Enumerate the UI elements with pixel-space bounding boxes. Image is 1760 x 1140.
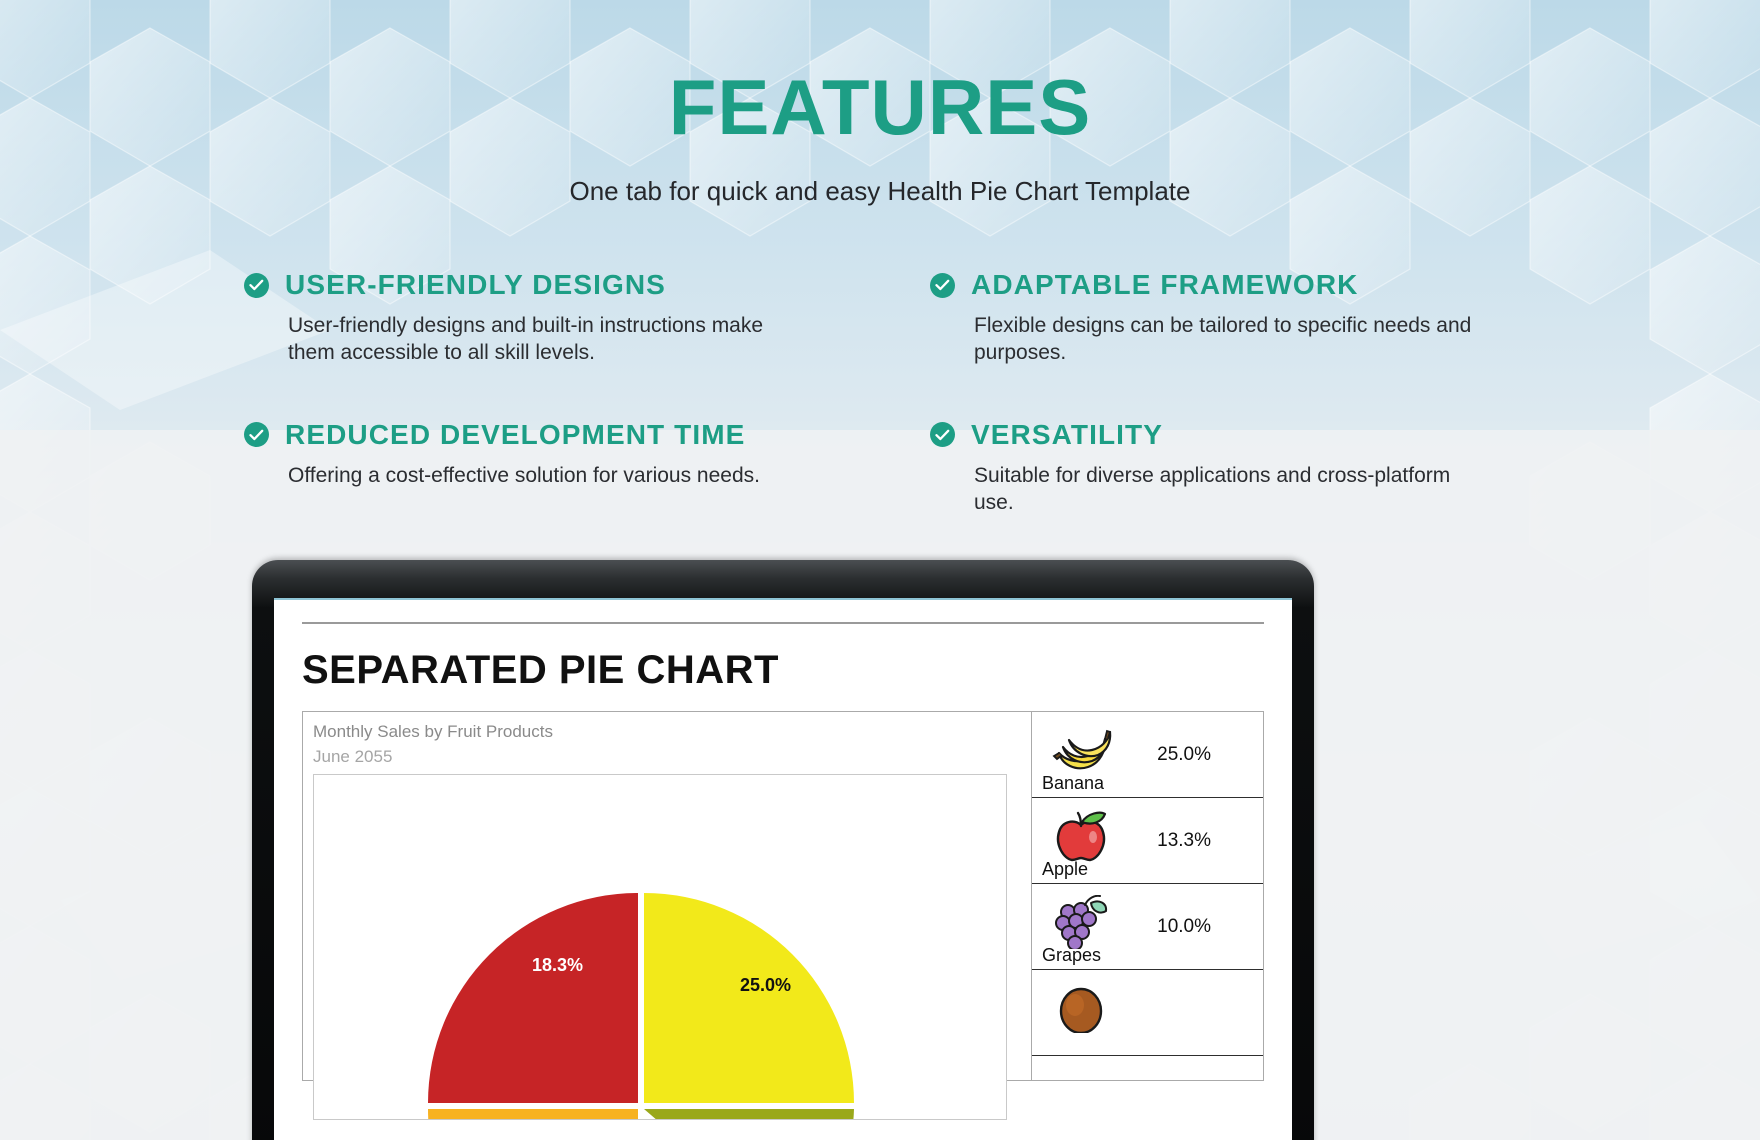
feature-title: ADAPTABLE FRAMEWORK [971,269,1358,301]
pie-slice-kiwi [644,1109,854,1120]
feature-title: VERSATILITY [971,419,1163,451]
page-subtitle: One tab for quick and easy Health Pie Ch… [0,176,1760,207]
legend-label-banana: Banana [1042,773,1104,794]
legend-row-kiwi [1032,970,1263,1056]
feature-heading: ADAPTABLE FRAMEWORK [930,269,1530,301]
plot-frame: 18.3% 25.0% [313,774,1007,1120]
check-circle-icon [244,422,269,447]
chart-subtitle: June 2055 [313,745,1021,770]
feature-title: USER-FRIENDLY DESIGNS [285,269,666,301]
check-circle-icon [930,273,955,298]
legend-row-apple: Apple 13.3% [1032,798,1263,884]
legend-percent-apple: 13.3% [1157,830,1211,852]
check-circle-icon [244,273,269,298]
chart-legend: Banana 25.0% Apple [1031,712,1263,1080]
feature-heading: VERSATILITY [930,419,1530,451]
laptop-mockup: SEPARATED PIE CHART Monthly Sales by Fru… [252,560,1314,1140]
feature-item-user-friendly-designs: USER-FRIENDLY DESIGNS User-friendly desi… [230,269,930,367]
check-circle-icon [930,422,955,447]
pie-slice-banana [644,893,854,1103]
laptop-screen: SEPARATED PIE CHART Monthly Sales by Fru… [274,598,1292,1140]
document-title: SEPARATED PIE CHART [302,648,1264,693]
legend-label-grapes: Grapes [1042,945,1101,966]
feature-heading: REDUCED DEVELOPMENT TIME [244,419,930,451]
chart-container: Monthly Sales by Fruit Products June 205… [302,711,1264,1081]
feature-description: Offering a cost-effective solution for v… [288,463,808,490]
page-title: FEATURES [0,68,1760,146]
feature-item-reduced-development-time: REDUCED DEVELOPMENT TIME Offering a cost… [230,419,930,517]
legend-row-grapes: Grapes 10.0% [1032,884,1263,970]
kiwi-icon [1042,979,1120,1047]
chart-title: Monthly Sales by Fruit Products [313,720,1021,745]
legend-percent-grapes: 10.0% [1157,916,1211,938]
document-divider [302,622,1264,624]
pie-chart: 18.3% 25.0% [380,871,940,1120]
chart-plot-area: Monthly Sales by Fruit Products June 205… [303,712,1031,1080]
page-header: FEATURES One tab for quick and easy Heal… [0,0,1760,207]
feature-item-versatility: VERSATILITY Suitable for diverse applica… [930,419,1530,517]
feature-description: Suitable for diverse applications and cr… [974,463,1494,517]
legend-percent-banana: 25.0% [1157,744,1211,766]
feature-description: Flexible designs can be tailored to spec… [974,313,1494,367]
feature-title: REDUCED DEVELOPMENT TIME [285,419,745,451]
features-grid: USER-FRIENDLY DESIGNS User-friendly desi… [230,269,1530,517]
feature-item-adaptable-framework: ADAPTABLE FRAMEWORK Flexible designs can… [930,269,1530,367]
feature-heading: USER-FRIENDLY DESIGNS [244,269,930,301]
legend-row-banana: Banana 25.0% [1032,712,1263,798]
feature-description: User-friendly designs and built-in instr… [288,313,808,367]
pie-slice-grapes [428,1109,638,1120]
document-sheet: SEPARATED PIE CHART Monthly Sales by Fru… [274,600,1292,1081]
legend-label-apple: Apple [1042,859,1088,880]
pie-slice-apple [428,893,638,1103]
